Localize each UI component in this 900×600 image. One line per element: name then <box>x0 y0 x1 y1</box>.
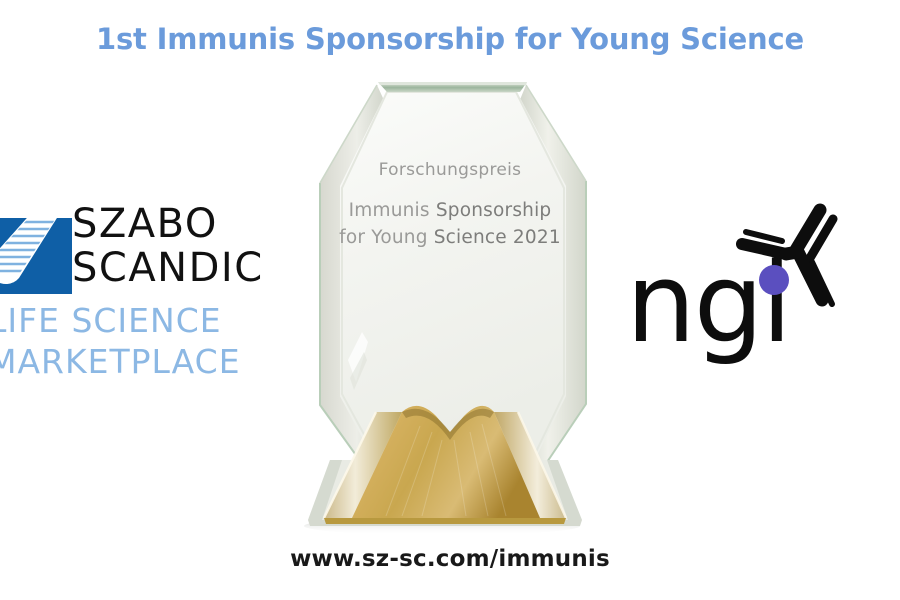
glass-face <box>340 90 566 464</box>
szabo-tagline-line1: LIFE SCIENCE <box>0 301 222 340</box>
antibody-y-shape-icon <box>736 196 846 326</box>
website-url: www.sz-sc.com/immunis <box>0 546 900 572</box>
award-trophy: Forschungspreis Immunis Sponsorship for … <box>290 60 610 540</box>
szabo-mark-square <box>0 218 72 294</box>
szabo-word-line2: SCANDIC <box>72 246 264 290</box>
trophy-illustration <box>290 60 610 540</box>
striped-test-tube-icon <box>0 218 72 294</box>
page-title: 1st Immunis Sponsorship for Young Scienc… <box>0 22 900 56</box>
promo-banner: 1st Immunis Sponsorship for Young Scienc… <box>0 0 900 600</box>
szabo-scandic-wordmark: SZABO SCANDIC <box>72 202 264 290</box>
szabo-scandic-logo: SZABO SCANDIC LIFE SCIENCE MARKETPLACE <box>0 200 288 390</box>
szabo-word-line1: SZABO <box>72 201 218 247</box>
szabo-tagline: LIFE SCIENCE MARKETPLACE <box>0 300 241 382</box>
antigen-dot-icon <box>759 265 789 295</box>
ngi-logo: ngi <box>618 196 848 376</box>
szabo-tagline-line2: MARKETPLACE <box>0 341 241 382</box>
